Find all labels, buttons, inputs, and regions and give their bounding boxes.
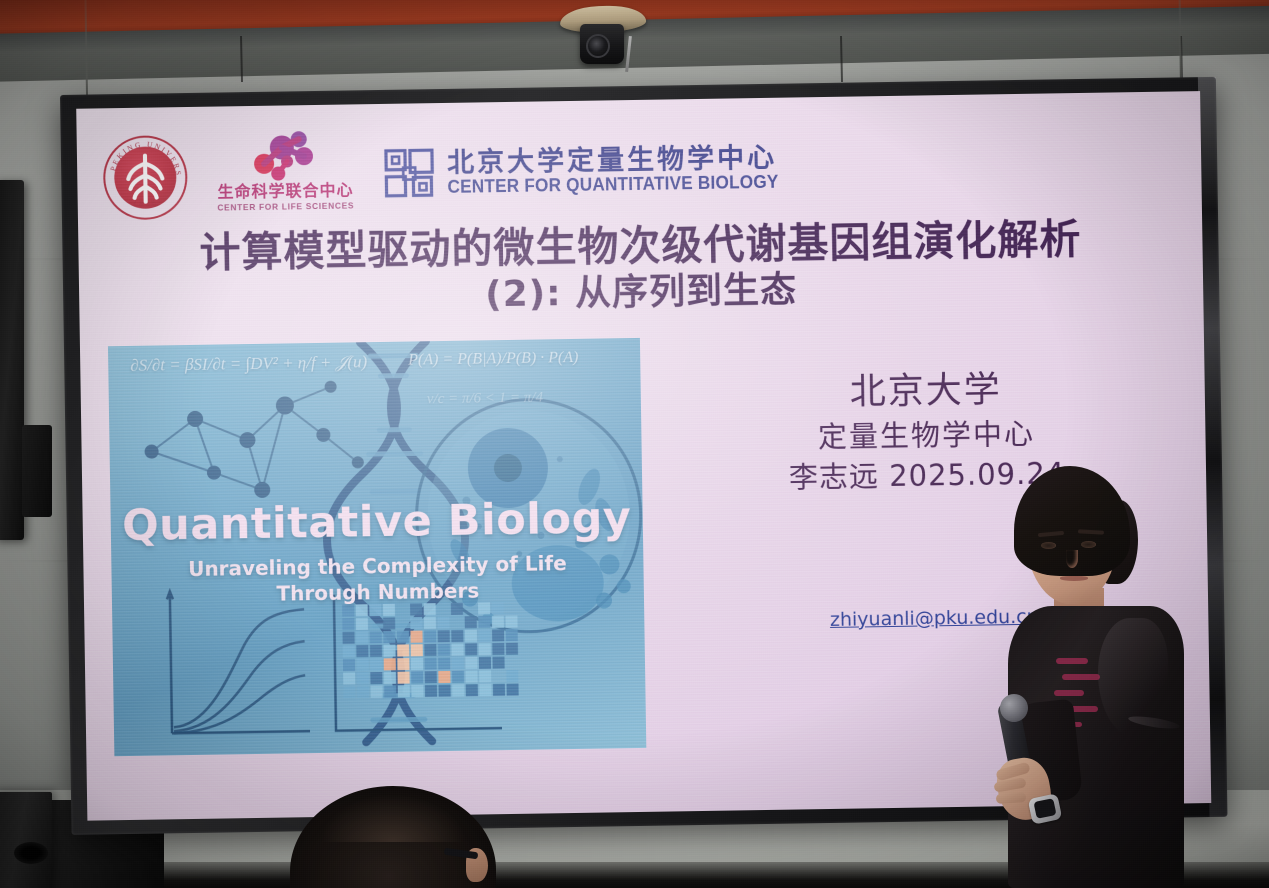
speaker-eye-left [1041,542,1056,549]
artwork-title: Quantitative Biology [110,493,643,551]
wall-speaker-bracket [22,425,52,517]
pku-seal-logo: PEKING UNIVERSITY 1898 [103,135,188,220]
artwork-subtitle: Unraveling the Complexity of Life Throug… [145,550,610,608]
cls-logo-cn: 生命科学联合中心 [217,183,353,201]
speaker-mouth [1060,576,1088,581]
cqb-logo-en: CENTER FOR QUANTITATIVE BIOLOGY [447,173,778,197]
speaker-finger [996,792,1027,804]
affiliation-university: 北京大学 [690,364,1161,420]
pku-seal-glyph: PEKING UNIVERSITY 1898 [103,135,188,220]
speaker-person [978,466,1206,888]
cqb-logo: 北京大学定量生物学中心 CENTER FOR QUANTITATIVE BIOL… [383,141,804,200]
logo-row: PEKING UNIVERSITY 1898 [102,115,804,230]
cqb-maze-icon [383,147,436,200]
audience-hair-highlight [318,792,468,842]
audience-member [290,786,496,888]
camera-lens-icon [586,34,610,58]
wall-speaker [0,180,24,540]
speaker-nose [1066,550,1078,568]
cqb-logo-text: 北京大学定量生物学中心 CENTER FOR QUANTITATIVE BIOL… [447,143,804,196]
floor-speaker [0,792,52,888]
cls-logo: 生命科学联合中心 CENTER FOR LIFE SCIENCES [209,128,362,222]
cls-logo-en: CENTER FOR LIFE SCIENCES [217,201,354,212]
slide-title: 计算模型驱动的微生物次级代谢基因组演化解析 (2): 从序列到生态 [96,215,1185,322]
speaker-eye-right [1081,541,1096,548]
floor-speaker-port [14,842,48,864]
presentation-photo: PEKING UNIVERSITY 1898 [0,0,1269,888]
artwork-panel: ∂S/∂t = βSI/∂t = ∫DV² + η/f + 𝒥(u) P(A) … [108,338,646,756]
cls-molecule-icon [242,129,329,184]
